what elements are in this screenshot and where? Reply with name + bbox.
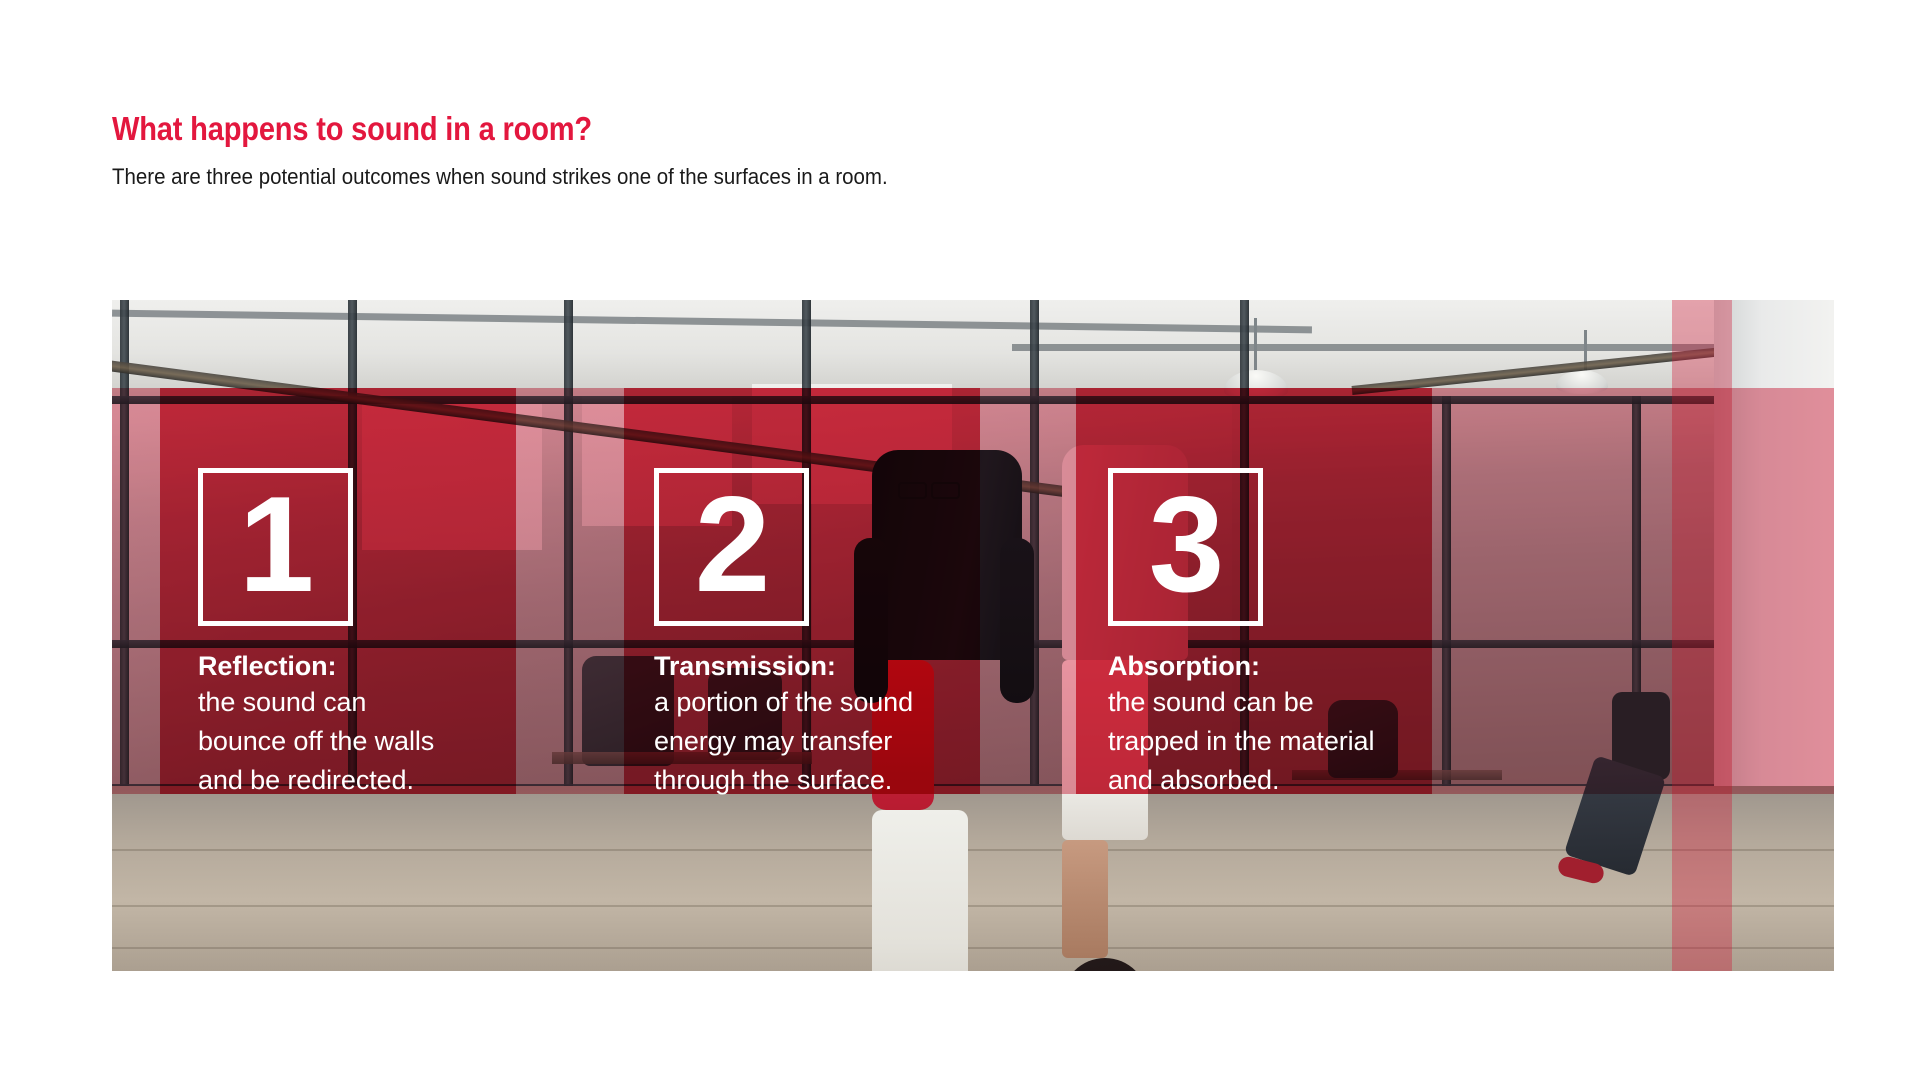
card-text: the sound can be trapped in the material…	[1108, 683, 1374, 800]
number-box-2: 2	[654, 468, 809, 626]
card-reflection: 1 Reflection: the sound can bounce off t…	[198, 468, 434, 800]
page-subtitle: There are three potential outcomes when …	[112, 163, 1321, 191]
card-text: a portion of the sound energy may transf…	[654, 683, 913, 800]
card-absorption: 3 Absorption: the sound can be trapped i…	[1108, 468, 1374, 800]
floor-seam	[112, 947, 1834, 949]
number-box-1: 1	[198, 468, 353, 626]
card-number: 2	[695, 476, 769, 612]
page-title: What happens to sound in a room?	[112, 110, 1256, 148]
legs	[872, 810, 968, 971]
card-term: Reflection:	[198, 650, 434, 683]
legs	[1062, 840, 1108, 958]
card-number: 1	[239, 476, 313, 612]
page-root: What happens to sound in a room? There a…	[0, 0, 1920, 1080]
number-box-3: 3	[1108, 468, 1263, 626]
card-body: Transmission: a portion of the sound ene…	[654, 650, 913, 800]
card-number: 3	[1149, 476, 1223, 612]
card-term: Absorption:	[1108, 650, 1374, 683]
card-body: Absorption: the sound can be trapped in …	[1108, 650, 1374, 800]
page-header: What happens to sound in a room? There a…	[112, 110, 1412, 191]
card-text: the sound can bounce off the walls and b…	[198, 683, 434, 800]
card-term: Transmission:	[654, 650, 913, 683]
card-transmission: 2 Transmission: a portion of the sound e…	[654, 468, 913, 800]
pendant-cord	[1254, 318, 1257, 376]
banner-image: 1 Reflection: the sound can bounce off t…	[112, 300, 1834, 971]
card-body: Reflection: the sound can bounce off the…	[198, 650, 434, 800]
